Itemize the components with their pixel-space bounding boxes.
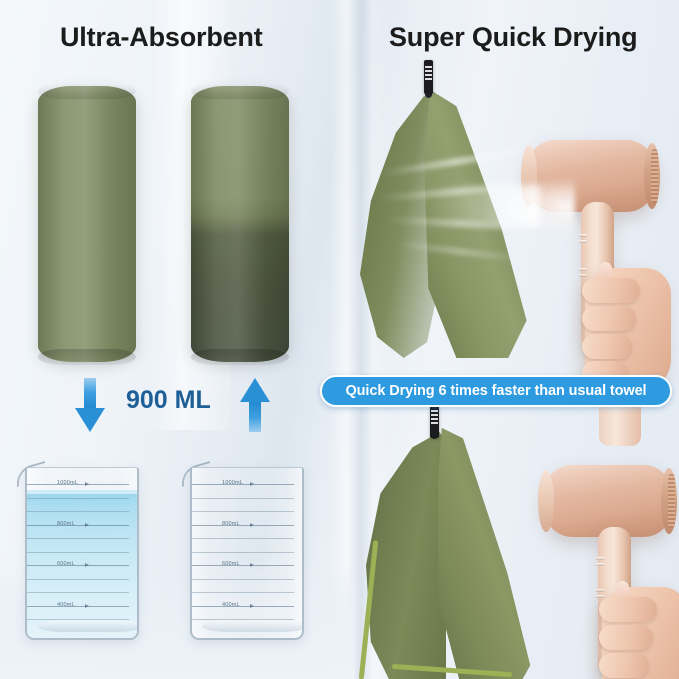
towel-roll-top xyxy=(38,83,136,99)
status-badge: Quick Drying 6 times faster than usual t… xyxy=(320,375,672,407)
beaker-filled-with-water: 1000mL 800mL 600mL 400mL xyxy=(17,455,143,645)
finger xyxy=(599,597,657,622)
dryer-button xyxy=(596,589,604,592)
graduation-label: 800mL xyxy=(222,521,240,527)
graduation-label: 600mL xyxy=(222,561,240,567)
graduation-label: 400mL xyxy=(57,602,75,608)
dryer-nozzle xyxy=(538,470,554,532)
towel-hang-tag xyxy=(424,60,433,94)
dryer-button xyxy=(596,563,604,566)
beaker-body: 1000mL 800mL 600mL 400mL xyxy=(190,467,304,640)
arrow-shaft xyxy=(249,400,261,432)
towel-panel-left xyxy=(366,432,446,679)
dryer-button xyxy=(579,234,587,237)
graduation-label: 600mL xyxy=(57,561,75,567)
graduation-label: 800mL xyxy=(57,521,75,527)
hanging-towel-dry xyxy=(352,410,542,679)
arrow-shaft xyxy=(84,378,96,410)
towel-roll-bottom xyxy=(38,349,136,365)
rolled-towel-absorbed xyxy=(191,86,289,362)
dryer-airflow-trail xyxy=(430,185,540,227)
rolled-towel-dry xyxy=(38,86,136,362)
graduation-label: 400mL xyxy=(222,602,240,608)
thumbnail xyxy=(599,262,612,278)
arrow-head xyxy=(240,378,270,402)
graduation-label: 1000mL xyxy=(57,480,78,486)
beaker-water xyxy=(27,490,137,638)
towel-roll-bottom xyxy=(191,349,289,365)
dryer-button xyxy=(579,268,587,271)
dryer-rear-vent xyxy=(661,468,677,534)
dryer-barrel xyxy=(525,140,657,212)
arrow-down-icon xyxy=(75,378,105,432)
heading-ultra-absorbent: Ultra-Absorbent xyxy=(60,22,263,53)
beaker-body: 1000mL 800mL 600mL 400mL xyxy=(25,467,139,640)
finger xyxy=(582,334,632,359)
volume-label: 900 ML xyxy=(126,386,211,415)
thumbnail xyxy=(616,581,629,597)
dryer-button xyxy=(596,557,604,560)
dryer-barrel xyxy=(542,465,674,537)
towel-roll-top xyxy=(191,83,289,99)
badge-label: Quick Drying 6 times faster than usual t… xyxy=(346,383,647,399)
finger xyxy=(582,278,640,303)
towel-hang-tag xyxy=(430,404,439,438)
tag-label-icon xyxy=(431,410,438,426)
graduation-label: 1000mL xyxy=(222,480,243,486)
heading-super-quick-drying: Super Quick Drying xyxy=(389,22,637,53)
towel-panel-right xyxy=(438,428,534,679)
arrow-up-icon xyxy=(240,378,270,432)
beaker-empty: 1000mL 800mL 600mL 400mL xyxy=(182,455,308,645)
finger xyxy=(582,306,636,331)
arrow-head xyxy=(75,408,105,432)
tag-label-icon xyxy=(425,66,432,82)
dryer-button xyxy=(579,240,587,243)
hand-holding-dryer xyxy=(602,587,679,679)
beaker-base xyxy=(202,620,304,632)
finger xyxy=(599,625,653,650)
dryer-rear-vent xyxy=(644,143,660,209)
product-infographic: Ultra-Absorbent Super Quick Drying 900 M… xyxy=(0,0,679,679)
dryer-button xyxy=(596,595,604,598)
dryer-button xyxy=(579,274,587,277)
beaker-base xyxy=(37,620,139,632)
finger xyxy=(599,653,649,678)
